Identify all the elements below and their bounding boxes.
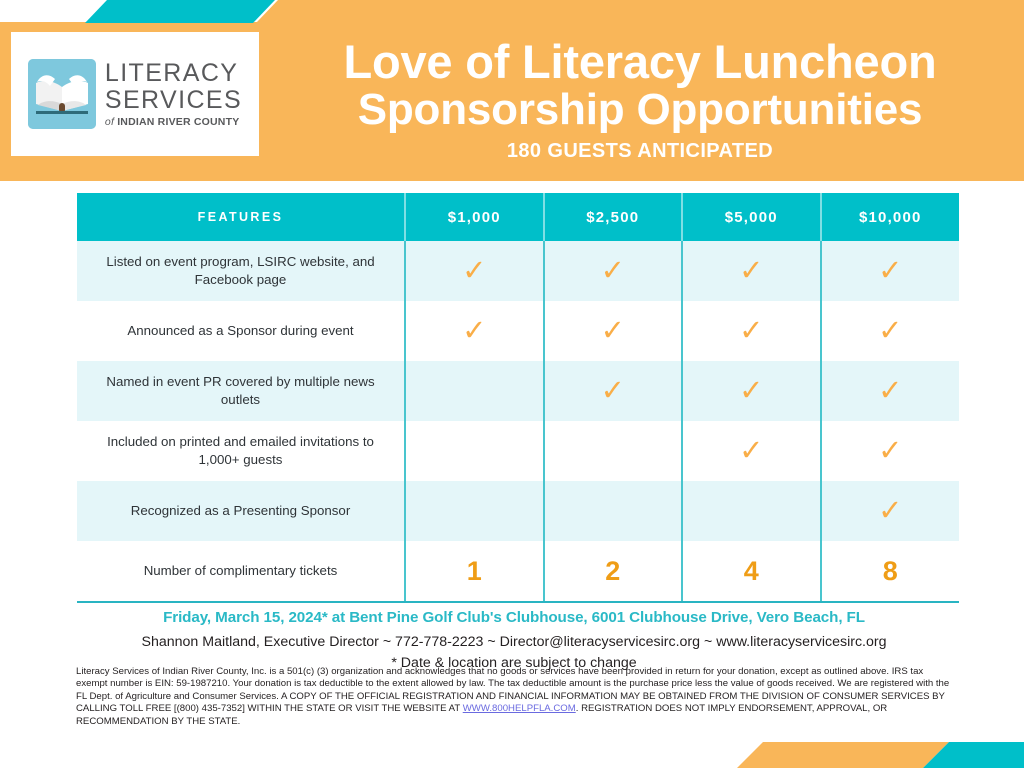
ticket-count-value: 4 bbox=[744, 558, 759, 585]
sponsorship-table: FEATURES $1,000 $2,500 $5,000 $10,000 Li… bbox=[77, 193, 959, 603]
footer-orange-accent bbox=[737, 742, 949, 768]
logo-prefix: of bbox=[105, 116, 117, 128]
logo-line-1: LITERACY bbox=[105, 61, 242, 86]
footer-band bbox=[0, 742, 1024, 768]
check-icon: ✓ bbox=[601, 257, 625, 286]
feature-cell: Named in event PR covered by multiple ne… bbox=[77, 361, 405, 421]
logo-county: INDIAN RIVER COUNTY bbox=[117, 116, 239, 128]
table-row: Recognized as a Presenting Sponsor✓ bbox=[77, 481, 959, 541]
ticket-count-value: 8 bbox=[883, 558, 898, 585]
cell-tier-2500: ✓ bbox=[544, 241, 683, 301]
table-row: Listed on event program, LSIRC website, … bbox=[77, 241, 959, 301]
page-title-line-1: Love of Literacy Luncheon bbox=[270, 38, 1010, 86]
column-header-tier-5000: $5,000 bbox=[682, 193, 821, 241]
feature-cell: Included on printed and emailed invitati… bbox=[77, 421, 405, 481]
cell-tier-2500: 2 bbox=[544, 541, 683, 602]
legal-disclaimer: Literacy Services of Indian River County… bbox=[76, 666, 950, 728]
feature-cell: Number of complimentary tickets bbox=[77, 541, 405, 602]
check-icon: ✓ bbox=[601, 377, 625, 406]
cell-tier-5000: ✓ bbox=[682, 241, 821, 301]
ticket-count-value: 2 bbox=[605, 558, 620, 585]
check-icon: ✓ bbox=[739, 437, 763, 466]
cell-tier-10000: ✓ bbox=[821, 481, 960, 541]
check-icon: ✓ bbox=[878, 497, 902, 526]
cell-tier-10000: ✓ bbox=[821, 421, 960, 481]
organization-logo: LITERACY SERVICES of INDIAN RIVER COUNTY bbox=[11, 32, 259, 156]
feature-cell: Listed on event program, LSIRC website, … bbox=[77, 241, 405, 301]
help-fla-link[interactable]: WWW.800HELPFLA.COM bbox=[463, 703, 576, 714]
cell-tier-1000 bbox=[405, 361, 544, 421]
check-icon: ✓ bbox=[739, 257, 763, 286]
table-header: FEATURES $1,000 $2,500 $5,000 $10,000 bbox=[77, 193, 959, 241]
flyer-page: LITERACY SERVICES of INDIAN RIVER COUNTY… bbox=[0, 0, 1024, 768]
table-row: Announced as a Sponsor during event✓✓✓✓ bbox=[77, 301, 959, 361]
cell-tier-5000: 4 bbox=[682, 541, 821, 602]
page-subtitle: 180 GUESTS ANTICIPATED bbox=[270, 140, 1010, 163]
event-details-line: Friday, March 15, 2024* at Bent Pine Gol… bbox=[64, 608, 964, 629]
cell-tier-1000 bbox=[405, 481, 544, 541]
cell-tier-10000: ✓ bbox=[821, 361, 960, 421]
cell-tier-2500: ✓ bbox=[544, 361, 683, 421]
column-header-tier-2500: $2,500 bbox=[544, 193, 683, 241]
page-title-line-2: Sponsorship Opportunities bbox=[270, 87, 1010, 133]
header-teal-accent bbox=[85, 0, 275, 23]
contact-details-line: Shannon Maitland, Executive Director ~ 7… bbox=[64, 633, 964, 652]
check-icon: ✓ bbox=[462, 257, 486, 286]
cell-tier-5000: ✓ bbox=[682, 421, 821, 481]
cell-tier-10000: ✓ bbox=[821, 301, 960, 361]
cell-tier-10000: ✓ bbox=[821, 241, 960, 301]
table-row: Named in event PR covered by multiple ne… bbox=[77, 361, 959, 421]
feature-cell: Recognized as a Presenting Sponsor bbox=[77, 481, 405, 541]
cell-tier-10000: 8 bbox=[821, 541, 960, 602]
cell-tier-1000: ✓ bbox=[405, 301, 544, 361]
ticket-count-value: 1 bbox=[467, 558, 482, 585]
check-icon: ✓ bbox=[739, 317, 763, 346]
cell-tier-5000 bbox=[682, 481, 821, 541]
check-icon: ✓ bbox=[601, 317, 625, 346]
check-icon: ✓ bbox=[878, 377, 902, 406]
column-header-tier-10000: $10,000 bbox=[821, 193, 960, 241]
header-orange-accent bbox=[256, 0, 1024, 23]
open-book-icon bbox=[28, 59, 96, 129]
cell-tier-1000: 1 bbox=[405, 541, 544, 602]
table-row: Included on printed and emailed invitati… bbox=[77, 421, 959, 481]
cell-tier-1000 bbox=[405, 421, 544, 481]
check-icon: ✓ bbox=[878, 317, 902, 346]
cell-tier-5000: ✓ bbox=[682, 301, 821, 361]
cell-tier-2500 bbox=[544, 481, 683, 541]
column-header-tier-1000: $1,000 bbox=[405, 193, 544, 241]
cell-tier-2500: ✓ bbox=[544, 301, 683, 361]
table-header-row: FEATURES $1,000 $2,500 $5,000 $10,000 bbox=[77, 193, 959, 241]
column-header-features: FEATURES bbox=[77, 193, 405, 241]
table-row: Number of complimentary tickets1248 bbox=[77, 541, 959, 602]
cell-tier-1000: ✓ bbox=[405, 241, 544, 301]
table-body: Listed on event program, LSIRC website, … bbox=[77, 241, 959, 602]
check-icon: ✓ bbox=[878, 437, 902, 466]
check-icon: ✓ bbox=[462, 317, 486, 346]
logo-line-2: SERVICES bbox=[105, 88, 242, 113]
header-title-block: Love of Literacy Luncheon Sponsorship Op… bbox=[270, 38, 1010, 163]
logo-line-3: of INDIAN RIVER COUNTY bbox=[105, 117, 242, 128]
cell-tier-5000: ✓ bbox=[682, 361, 821, 421]
check-icon: ✓ bbox=[878, 257, 902, 286]
footer-block: Friday, March 15, 2024* at Bent Pine Gol… bbox=[64, 608, 964, 673]
feature-cell: Announced as a Sponsor during event bbox=[77, 301, 405, 361]
check-icon: ✓ bbox=[739, 377, 763, 406]
sponsorship-table-wrapper: FEATURES $1,000 $2,500 $5,000 $10,000 Li… bbox=[77, 193, 959, 603]
cell-tier-2500 bbox=[544, 421, 683, 481]
